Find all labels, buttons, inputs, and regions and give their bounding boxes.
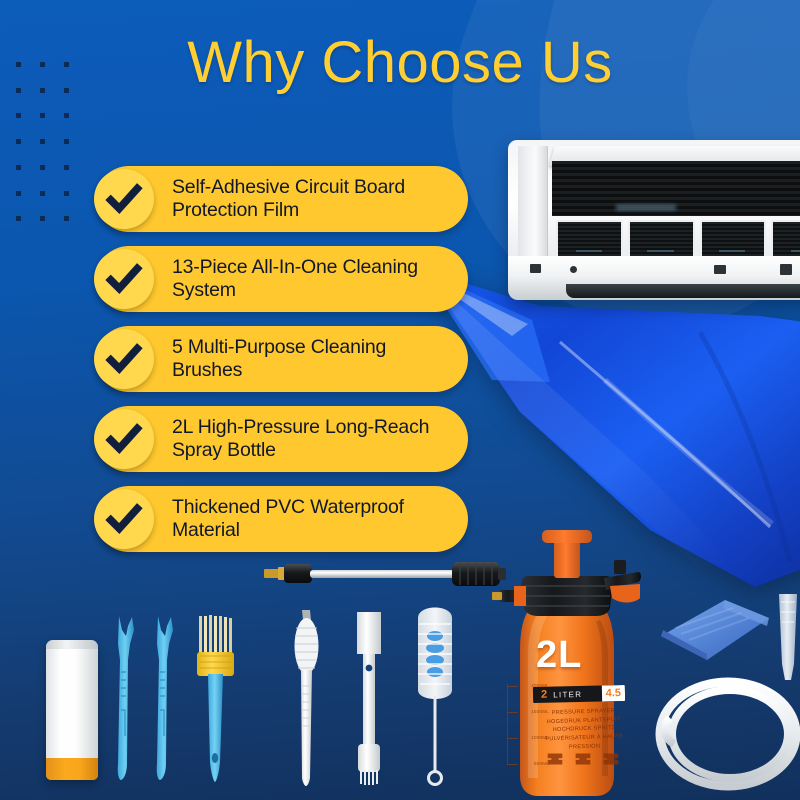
feature-list: Self-Adhesive Circuit Board Protection F… [96,166,468,566]
band-unit: LITER [547,689,582,699]
page-title: Why Choose Us [0,34,800,92]
band-alt-volume: 4.5 [602,685,626,701]
ac-body [508,140,800,300]
check-icon [94,249,154,309]
check-icon [94,329,154,389]
ac-indicator [714,265,726,274]
band-volume: 2 [533,689,547,701]
ac-indicator [530,264,541,273]
drain-spout-product [775,592,800,682]
ac-lower-face [508,256,800,300]
air-conditioner-unit [508,140,800,300]
fin-brush-product [192,612,238,784]
drain-hose-product [648,672,800,796]
feature-pill[interactable]: Thickened PVC Waterproof Material [96,486,468,552]
check-icon [94,489,154,549]
feature-label: 5 Multi-Purpose Cleaning Brushes [172,336,450,383]
feature-label: 13-Piece All-In-One Cleaning System [172,256,450,303]
ac-filter [556,220,623,258]
pressure-sprayer-bottle [492,528,642,800]
feature-pill[interactable]: 13-Piece All-In-One Cleaning System [96,246,468,312]
pry-tool-product [151,614,177,782]
microfiber-cloth-product [655,596,773,664]
feature-pill[interactable]: 5 Multi-Purpose Cleaning Brushes [96,326,468,392]
ac-filter-group [556,220,800,258]
scraper-brush-product [348,606,390,788]
bottle-brush-product [408,596,462,788]
ac-indicator [780,264,792,275]
feature-label: Thickened PVC Waterproof Material [172,496,450,543]
detail-brush-product [288,606,326,788]
infographic-poster: Why Choose Us [0,0,800,800]
check-icon [94,169,154,229]
feature-pill[interactable]: 2L High-Pressure Long-Reach Spray Bottle [96,406,468,472]
ac-air-outlet [566,284,800,298]
ac-filter [771,220,800,258]
check-icon [94,409,154,469]
feature-label: Self-Adhesive Circuit Board Protection F… [172,176,450,223]
ac-evaporator-coil [552,158,800,216]
ac-indicator [570,266,577,273]
ac-filter [700,220,767,258]
feature-label: 2L High-Pressure Long-Reach Spray Bottle [172,416,450,463]
ac-filter [628,220,695,258]
film-roll-product [46,640,98,780]
pry-tool-product [112,614,138,782]
feature-pill[interactable]: Self-Adhesive Circuit Board Protection F… [96,166,468,232]
bottle-volume-band: 2 LITER 4.5 [533,685,625,703]
